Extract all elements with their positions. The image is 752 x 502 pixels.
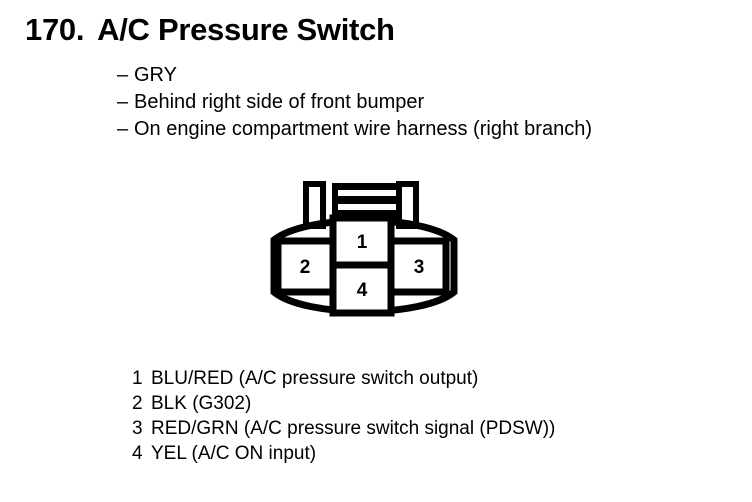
connector-face-svg: 1 2 3 4 (258, 178, 470, 320)
pin-legend-description: BLK (G302) (151, 391, 251, 416)
pin-legend-row: 1 BLU/RED (A/C pressure switch output) (132, 366, 742, 391)
cavity-label-4: 4 (357, 280, 368, 301)
pin-legend-description: BLU/RED (A/C pressure switch output) (151, 366, 478, 391)
detail-dash-icon: – (117, 89, 134, 116)
detail-dash-icon: – (117, 116, 134, 143)
detail-item-label: GRY (134, 62, 177, 89)
detail-list: – GRY – Behind right side of front bumpe… (117, 62, 737, 143)
pin-legend-row: 3 RED/GRN (A/C pressure switch signal (P… (132, 416, 742, 441)
pin-legend-number: 3 (132, 416, 151, 441)
header-block: 170.A/C Pressure Switch (25, 12, 735, 48)
connector-diagram: 1 2 3 4 (258, 178, 470, 320)
keyway-slot-upper (338, 190, 396, 196)
pin-legend-description: RED/GRN (A/C pressure switch signal (PDS… (151, 416, 555, 441)
detail-item-label: On engine compartment wire harness (righ… (134, 116, 592, 143)
pin-legend-number: 1 (132, 366, 151, 391)
cavity-label-3: 3 (414, 257, 425, 278)
pin-legend-number: 4 (132, 441, 151, 466)
pin-legend-list: 1 BLU/RED (A/C pressure switch output) 2… (132, 366, 742, 466)
keyway-slot-lower (338, 204, 396, 210)
pin-legend-row: 4 YEL (A/C ON input) (132, 441, 742, 466)
page-title: 170.A/C Pressure Switch (25, 12, 735, 48)
detail-item-location: – Behind right side of front bumper (117, 89, 737, 116)
page-title-number: 170. (25, 12, 84, 48)
detail-item-harness: – On engine compartment wire harness (ri… (117, 116, 737, 143)
cavity-label-1: 1 (357, 232, 368, 253)
detail-item-color: – GRY (117, 62, 737, 89)
cavity-label-2: 2 (300, 257, 311, 278)
pin-legend-row: 2 BLK (G302) (132, 391, 742, 416)
locking-tab-left (306, 184, 323, 226)
detail-dash-icon: – (117, 62, 134, 89)
pin-legend-description: YEL (A/C ON input) (151, 441, 316, 466)
pin-legend-number: 2 (132, 391, 151, 416)
page-title-text: A/C Pressure Switch (97, 12, 395, 47)
detail-item-label: Behind right side of front bumper (134, 89, 424, 116)
